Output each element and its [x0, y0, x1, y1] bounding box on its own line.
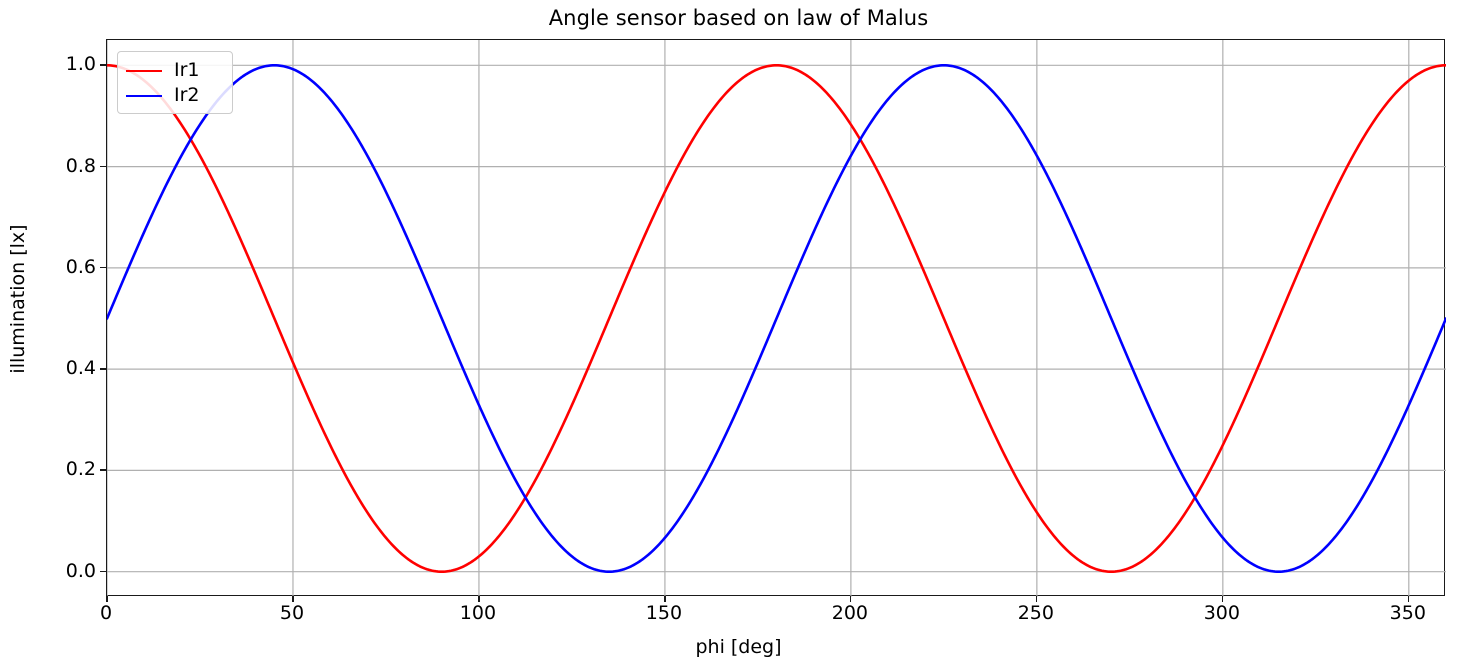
legend-item: Ir1: [126, 58, 224, 83]
y-tick-mark: [100, 166, 106, 168]
x-tick-mark: [664, 596, 666, 602]
series-lines: [107, 65, 1446, 571]
y-tick-mark: [100, 469, 106, 471]
x-tick-label: 350: [1363, 602, 1453, 624]
x-tick-label: 250: [991, 602, 1081, 624]
legend-swatch-ir1: [126, 70, 162, 72]
x-tick-mark: [1222, 596, 1224, 602]
chart-title: Angle sensor based on law of Malus: [0, 6, 1477, 30]
y-tick-mark: [100, 368, 106, 370]
legend-swatch-ir2: [126, 95, 162, 97]
x-axis-label: phi [deg]: [0, 636, 1477, 658]
x-tick-label: 150: [619, 602, 709, 624]
figure-canvas: Angle sensor based on law of Malus 0.00.…: [0, 0, 1477, 669]
x-tick-mark: [1408, 596, 1410, 602]
y-tick-mark: [100, 571, 106, 573]
y-tick-mark: [100, 64, 106, 66]
x-tick-label: 50: [247, 602, 337, 624]
x-tick-mark: [850, 596, 852, 602]
x-tick-label: 0: [61, 602, 151, 624]
legend-item: Ir2: [126, 83, 224, 108]
x-tick-mark: [292, 596, 294, 602]
x-tick-label: 300: [1177, 602, 1267, 624]
series-line-ir2: [107, 65, 1446, 571]
legend-box: Ir1 Ir2: [117, 51, 233, 114]
x-tick-mark: [106, 596, 108, 602]
plot-svg: [107, 40, 1446, 597]
plot-area: [106, 39, 1445, 596]
x-tick-mark: [1036, 596, 1038, 602]
x-tick-label: 200: [805, 602, 895, 624]
y-axis-label: illumination [lx]: [7, 19, 29, 579]
x-tick-mark: [478, 596, 480, 602]
x-gridlines: [107, 40, 1409, 597]
legend-label-ir2: Ir2: [174, 86, 200, 105]
legend-label-ir1: Ir1: [174, 61, 200, 80]
x-tick-label: 100: [433, 602, 523, 624]
y-tick-mark: [100, 267, 106, 269]
